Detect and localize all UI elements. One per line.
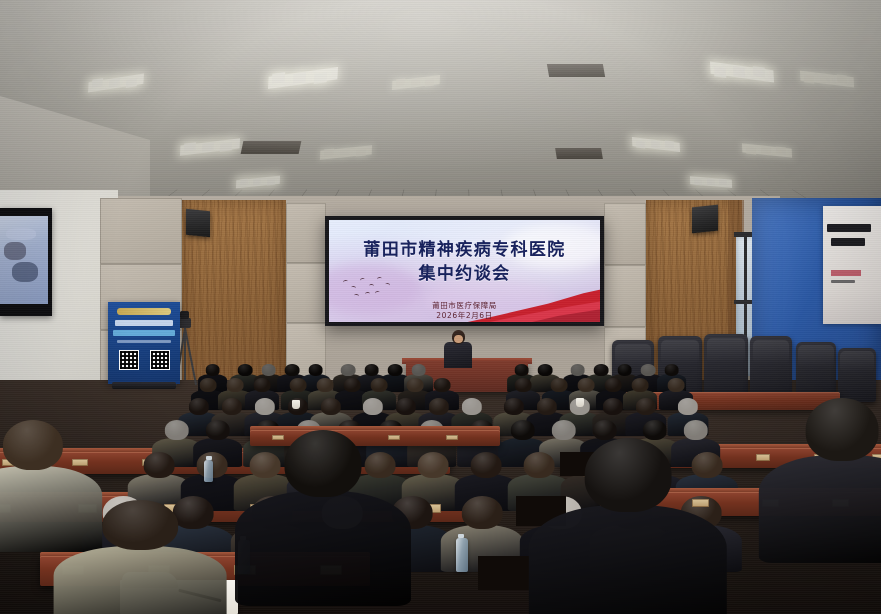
cup-icon [576, 398, 584, 407]
audience-person-head [261, 364, 276, 376]
audience-person-head [692, 452, 723, 478]
rollup-poster-banner [108, 302, 180, 384]
presenter-person [444, 330, 472, 366]
projection-screen-frame: 莆田市精神疾病专科医院 集中约谈会 莆田市医疗保障局 2026年2月6日 [325, 216, 604, 326]
audience-person-head [254, 378, 271, 392]
audience-person-head [677, 398, 697, 415]
audience-person-head [371, 378, 388, 392]
audience-person-head [205, 420, 230, 440]
foreground-person-bottom-left [86, 500, 194, 614]
audience-person-head [344, 378, 361, 392]
executive-chair [750, 336, 792, 400]
audience-person-head [188, 398, 208, 415]
poster-subtitle-bar [113, 330, 175, 336]
audience-person-head [668, 378, 685, 392]
poster-header-bar [117, 308, 171, 315]
audience-person-head [632, 378, 649, 392]
audience-person-head [434, 378, 451, 392]
foreground-person-center [268, 430, 378, 590]
audience-person-head [462, 496, 503, 529]
audience-person-head [418, 452, 449, 478]
cup-icon [292, 400, 300, 409]
audience-person-head [411, 364, 426, 376]
audience-person-head [536, 398, 556, 415]
wall-panel [286, 203, 326, 263]
foreground-person-head [102, 500, 178, 550]
white-poster [823, 206, 881, 324]
bench-number-plate [692, 499, 709, 507]
audience-person-head [428, 398, 448, 415]
foreground-person-body [235, 491, 411, 606]
audience-person-head [395, 398, 415, 415]
foreground-person-head [585, 438, 672, 512]
audience-person-head [254, 398, 274, 415]
audience-person-head [605, 378, 622, 392]
poster-text-bar [117, 340, 171, 343]
bottle-cap [458, 534, 464, 538]
presenter-face [454, 335, 463, 343]
audience-person-head [407, 378, 424, 392]
audience-person-head [362, 398, 382, 415]
foreground-person-right [566, 438, 690, 614]
tripod-leg [184, 328, 186, 380]
bottle-cap [206, 456, 212, 460]
bird-icon [377, 277, 383, 282]
audience-person-head [524, 452, 555, 478]
audience-person-head [341, 364, 356, 376]
screen-title-line2: 集中约谈会 [329, 259, 600, 284]
audience-person-head [510, 420, 535, 440]
qr-code-icon [119, 350, 139, 370]
wall-panel [100, 198, 182, 264]
bird-icon [365, 292, 370, 297]
audience-person-head [635, 398, 655, 415]
audience-person-head [205, 364, 220, 376]
bench-number-plate [446, 435, 458, 440]
bird-icon [354, 294, 360, 299]
executive-chair [838, 348, 876, 402]
audience-person-head [308, 364, 323, 376]
poster-title-bar [115, 320, 173, 326]
foreground-person-far-right [790, 398, 881, 548]
presenter-body [444, 342, 472, 368]
foreground-person-body [759, 455, 881, 563]
audience-person-head [388, 364, 403, 376]
audience-person-head [200, 378, 217, 392]
wall-speaker-icon [692, 205, 718, 234]
audience-person-head [570, 364, 585, 376]
camera-icon [180, 311, 189, 319]
audience-person-head [594, 364, 609, 376]
poster-text-line [831, 238, 865, 246]
tv-content-blob [4, 242, 26, 260]
foreground-person-head [3, 420, 63, 470]
screen-title-line1: 莆田市精神疾病专科医院 [329, 235, 600, 260]
audience-person-head [503, 398, 523, 415]
audience-person-head [514, 364, 529, 376]
ceiling-shading [0, 0, 881, 215]
foreground-person-body [529, 505, 727, 614]
bench-number-plate [388, 435, 400, 440]
foreground-person-head [806, 398, 879, 461]
audience-person-head [551, 378, 568, 392]
foreground-person-head [285, 430, 362, 497]
screen-date: 2026年2月6日 [329, 310, 600, 321]
audience-person-head [461, 398, 481, 415]
audience-person-head [578, 378, 595, 392]
projection-screen: 莆田市精神疾病专科医院 集中约谈会 莆田市医疗保障局 2026年2月6日 [329, 220, 600, 322]
foreground-person-left [0, 420, 76, 540]
audience-person-head [317, 378, 334, 392]
audience-person-head [664, 364, 679, 376]
audience-person-head [471, 452, 502, 478]
audience-person-head [290, 378, 307, 392]
audience-person-head [320, 398, 340, 415]
audience-person-head [221, 398, 241, 415]
bench-number-plate [756, 454, 770, 461]
audience-person-head [602, 398, 622, 415]
poster-text-line [827, 224, 871, 232]
audience-person-head [144, 452, 175, 478]
wall-mounted-tv [0, 208, 52, 316]
audience-person-head [227, 378, 244, 392]
audience-person-head [641, 364, 656, 376]
wall-panel [286, 263, 326, 323]
bird-icon [351, 286, 357, 291]
audience-person-head [538, 364, 553, 376]
poster-stand-base [112, 382, 176, 389]
foreground-person-body [54, 546, 227, 614]
water-bottle [204, 460, 213, 482]
poster-text-line [831, 280, 855, 283]
wall-panel [604, 265, 646, 327]
audience-person-head [617, 364, 632, 376]
tv-content-blob [6, 228, 36, 240]
qr-code-icon [150, 350, 170, 370]
bird-icon [369, 284, 374, 288]
poster-accent [831, 270, 861, 276]
wall-panel [604, 203, 646, 265]
tv-content-blob [12, 262, 38, 282]
audience-person-head [164, 420, 189, 440]
bird-icon [385, 282, 391, 287]
audience-person-head [515, 378, 532, 392]
executive-chair [704, 334, 748, 400]
bench-aisle-gap [478, 556, 530, 590]
audience-person-head [238, 364, 253, 376]
audience-person-head [285, 364, 300, 376]
ceiling [0, 0, 881, 215]
audience-person-head [364, 364, 379, 376]
water-bottle [456, 538, 468, 572]
conference-room-photo: 莆田市精神疾病专科医院 集中约谈会 莆田市医疗保障局 2026年2月6日 [0, 0, 881, 614]
tv-screen [0, 216, 48, 304]
wall-speaker-icon [186, 209, 210, 238]
